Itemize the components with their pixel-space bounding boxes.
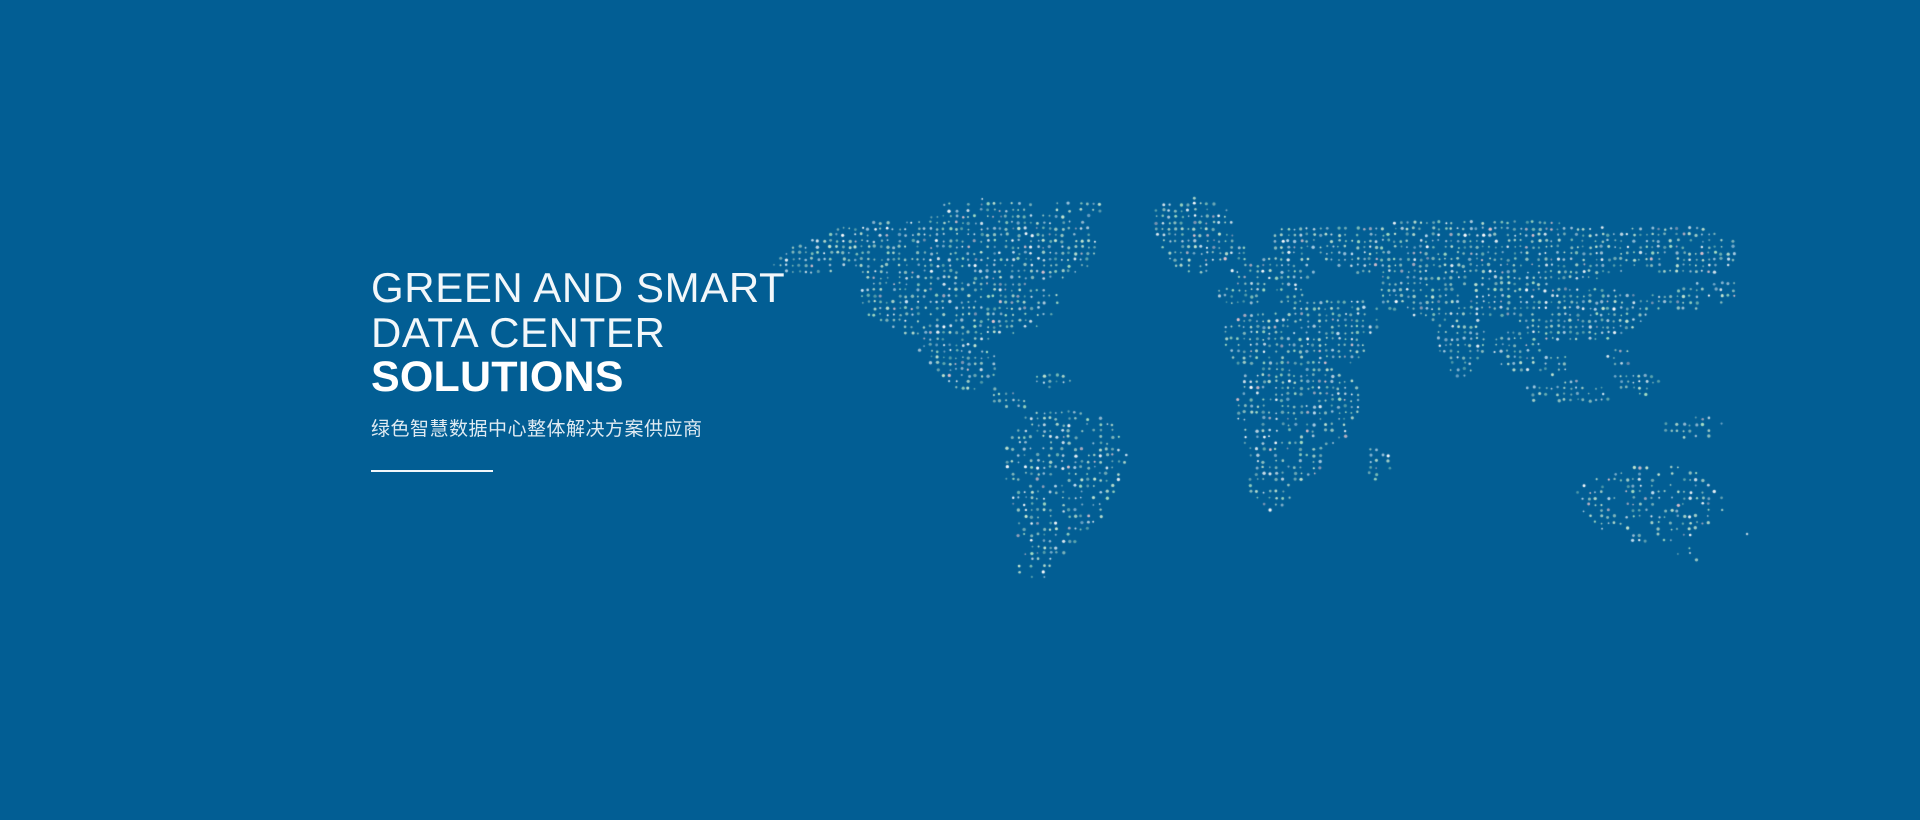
headline-line-2: DATA CENTER [371,310,1131,355]
headline-line-3: SOLUTIONS [371,355,1131,400]
hero-banner: GREEN AND SMART DATA CENTER SOLUTIONS 绿色… [0,0,1920,820]
accent-rule [371,470,493,472]
hero-text-block: GREEN AND SMART DATA CENTER SOLUTIONS 绿色… [371,265,1131,472]
subtitle-chinese: 绿色智慧数据中心整体解决方案供应商 [371,400,1131,443]
headline-line-1: GREEN AND SMART [371,265,1131,310]
